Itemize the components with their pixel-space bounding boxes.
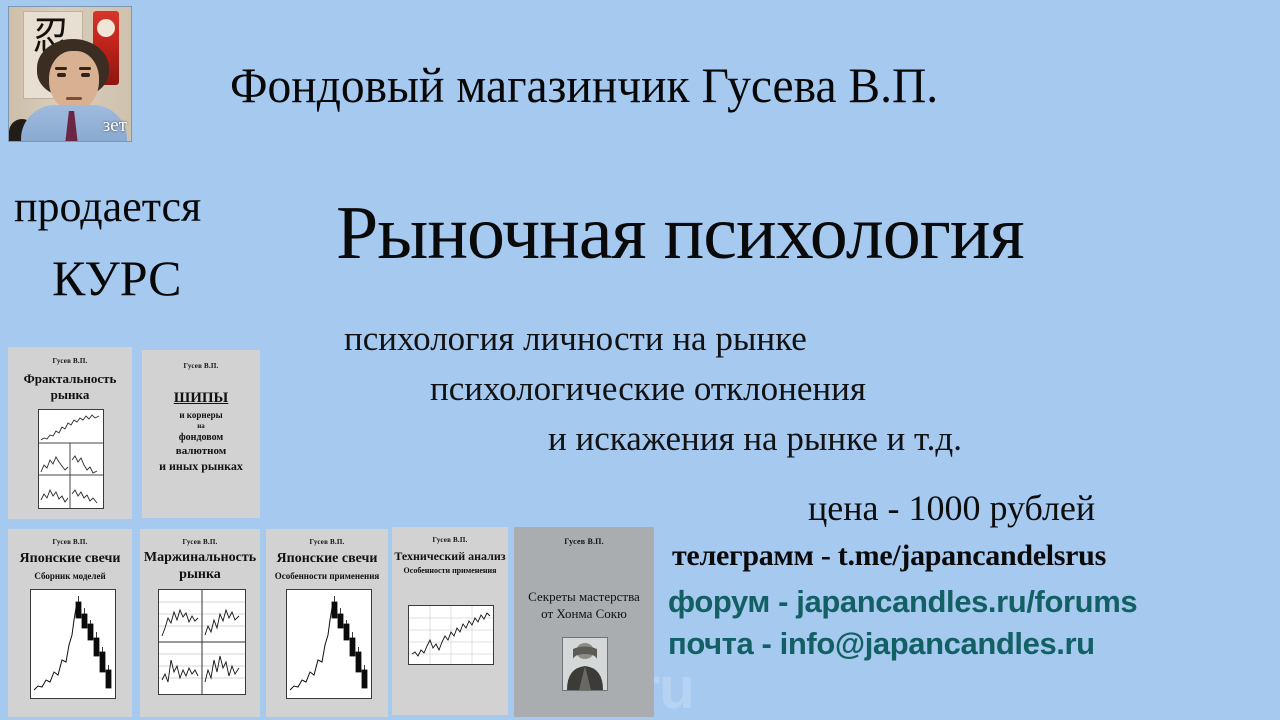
shop-title: Фондовый магазинчик Гусева В.П. (230, 57, 938, 113)
book-subtitle-line-5: и иных рынках (142, 459, 260, 473)
book-author: Гусев В.П. (8, 538, 132, 546)
book-portrait-thumbnail (562, 637, 608, 691)
book-author: Гусев В.П. (142, 362, 260, 370)
book-author: Гусев В.П. (514, 538, 654, 546)
book-subtitle-line-3: фондовом (142, 432, 260, 444)
book-chart-thumbnail (286, 589, 372, 699)
book-cover-honma[interactable]: Гусев В.П. Секреты мастерства от Хонма С… (514, 527, 654, 717)
book-title: Маржинальность (140, 550, 260, 566)
avatar-eye-right (81, 73, 90, 77)
avatar-eyebrow-right (79, 67, 91, 70)
contact-forum[interactable]: форум - japancandles.ru/forums (668, 583, 1137, 621)
book-cover-japanese-candles-1[interactable]: Гусев В.П. Японские свечи Сборник моделе… (8, 529, 132, 717)
book-title-second-line: рынка (140, 567, 260, 583)
book-cover-japanese-candles-2[interactable]: Гусев В.П. Японские свечи Особенности пр… (266, 529, 388, 717)
avatar: 忍 зет (8, 6, 132, 142)
book-cover-technical-analysis[interactable]: Гусев В.П. Технический анализ Особенност… (392, 527, 508, 715)
book-chart-thumbnail (38, 409, 104, 509)
book-subtitle: Сборник моделей (8, 571, 132, 582)
book-subtitle-line-1: и корнеры (142, 410, 260, 421)
avatar-mouth (66, 97, 82, 100)
book-chart-thumbnail (158, 589, 246, 695)
book-cover-shipy[interactable]: Гусев В.П. ШИПЫ и корнеры на фондовом ва… (142, 350, 260, 518)
price-label: цена - 1000 рублей (808, 487, 1095, 529)
book-title: Японские свечи (8, 551, 132, 567)
avatar-eye-left (57, 73, 66, 77)
book-author: Гусев В.П. (140, 538, 260, 546)
book-title: Технический анализ (392, 549, 508, 563)
book-chart-thumbnail (30, 589, 116, 699)
promo-line-2: КУРС (52, 250, 182, 306)
avatar-eyebrow-left (55, 67, 67, 70)
slide-canvas: es.ru 忍 зет Фондовый магазинчик Гусева В… (0, 0, 1280, 720)
subtitle-line-2: психологические отклонения (430, 368, 866, 410)
book-chart-thumbnail (408, 605, 494, 665)
book-title: Фрактальность (8, 371, 132, 386)
subtitle-line-1: психология личности на рынке (344, 318, 807, 360)
book-cover-fractal[interactable]: Гусев В.П. Фрактальность рынка (8, 347, 132, 519)
book-author: Гусев В.П. (266, 538, 388, 546)
page-title: Рыночная психология (336, 190, 1024, 276)
promo-line-1: продается (14, 182, 201, 232)
book-author: Гусев В.П. (8, 357, 132, 365)
book-subtitle-line-4: валютном (142, 445, 260, 458)
avatar-watermark-label: зет (103, 116, 127, 135)
avatar-face (49, 51, 99, 111)
book-title: ШИПЫ (142, 390, 260, 407)
book-subtitle: Особенности применения (266, 571, 388, 582)
book-subtitle-line-2: на (142, 422, 260, 431)
book-title: Японские свечи (266, 551, 388, 567)
book-title-second-line: рынка (8, 387, 132, 402)
book-cover-marginality[interactable]: Гусев В.П. Маржинальность рынка (140, 529, 260, 717)
book-author: Гусев В.П. (392, 536, 508, 544)
book-subtitle: Особенности применения (392, 566, 508, 576)
subtitle-line-3: и искажения на рынке и т.д. (548, 418, 962, 460)
contact-email[interactable]: почта - info@japancandles.ru (668, 625, 1095, 663)
contact-telegram[interactable]: телеграмм - t.me/japancandelsrus (672, 538, 1106, 574)
book-title: Секреты мастерства (514, 589, 654, 605)
book-title-second-line: от Хонма Сокю (514, 606, 654, 622)
